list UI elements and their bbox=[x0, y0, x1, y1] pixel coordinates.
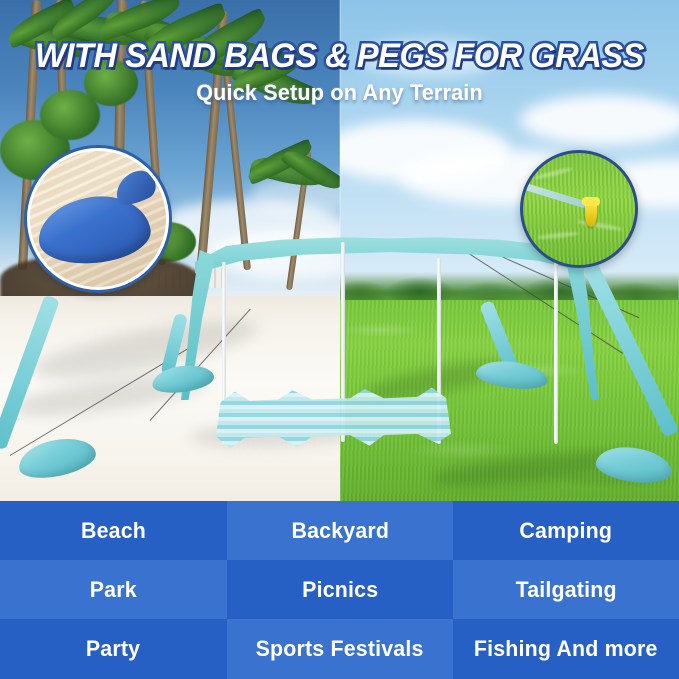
cloud-shape bbox=[210, 230, 340, 280]
grass-blade bbox=[537, 231, 579, 240]
use-case-label: Camping bbox=[520, 518, 613, 544]
use-case-label: Sports Festivals bbox=[256, 636, 424, 662]
grass-blade bbox=[533, 166, 573, 181]
use-case-cell-tailgating[interactable]: Tailgating bbox=[453, 560, 679, 619]
split-scene: WITH SAND BAGS & PEGS FOR GRASS Quick Se… bbox=[0, 0, 679, 501]
use-case-label: Tailgating bbox=[515, 577, 616, 603]
grass-scene-half bbox=[340, 0, 679, 501]
use-case-label: Park bbox=[90, 577, 137, 603]
use-case-cell-party[interactable]: Party bbox=[0, 619, 227, 679]
use-case-cell-beach[interactable]: Beach bbox=[0, 501, 227, 560]
grass-peg-closeup-inset bbox=[520, 150, 638, 268]
use-case-grid: Beach Backyard Camping Park Picnics Tail… bbox=[0, 501, 679, 679]
use-case-cell-picnics[interactable]: Picnics bbox=[227, 560, 453, 619]
use-case-cell-fishing[interactable]: Fishing And more bbox=[453, 619, 679, 679]
use-case-cell-park[interactable]: Park bbox=[0, 560, 227, 619]
sand-bag-closeup-inset bbox=[27, 148, 169, 290]
product-marketing-image: WITH SAND BAGS & PEGS FOR GRASS Quick Se… bbox=[0, 0, 679, 679]
use-case-cell-sports-festivals[interactable]: Sports Festivals bbox=[227, 619, 453, 679]
page-title: WITH SAND BAGS & PEGS FOR GRASS bbox=[14, 38, 666, 74]
use-case-label: Beach bbox=[81, 518, 146, 544]
scene-split-seam bbox=[339, 0, 341, 501]
use-case-label: Party bbox=[86, 636, 140, 662]
use-case-label: Fishing And more bbox=[474, 636, 658, 662]
use-case-cell-camping[interactable]: Camping bbox=[453, 501, 679, 560]
use-case-label: Backyard bbox=[291, 518, 389, 544]
use-case-cell-backyard[interactable]: Backyard bbox=[227, 501, 453, 560]
use-case-label: Picnics bbox=[302, 577, 378, 603]
grass-blade bbox=[577, 219, 623, 232]
ground-peg-head bbox=[582, 197, 600, 206]
page-subtitle: Quick Setup on Any Terrain bbox=[7, 80, 672, 106]
